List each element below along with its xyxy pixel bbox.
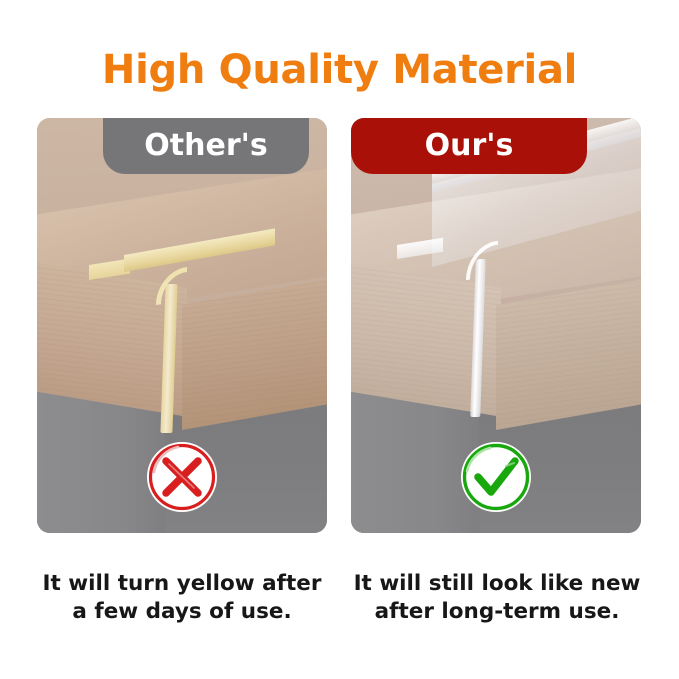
badge-ours: Our's	[351, 118, 587, 174]
comparison-panel-our: Our's	[351, 118, 641, 533]
caption-our-line2: after long-term use.	[337, 598, 657, 626]
caption-our-line1: It will still look like new	[337, 570, 657, 598]
caption-other-line1: It will turn yellow after	[22, 570, 342, 598]
page-title: High Quality Material	[0, 47, 679, 93]
caption-other: It will turn yellow after a few days of …	[22, 570, 342, 626]
comparison-panel-other: Other's	[37, 118, 327, 533]
caption-other-line2: a few days of use.	[22, 598, 342, 626]
check-icon	[458, 439, 534, 515]
caption-our: It will still look like new after long-t…	[337, 570, 657, 626]
cross-icon	[144, 439, 220, 515]
badge-others: Other's	[103, 118, 309, 174]
